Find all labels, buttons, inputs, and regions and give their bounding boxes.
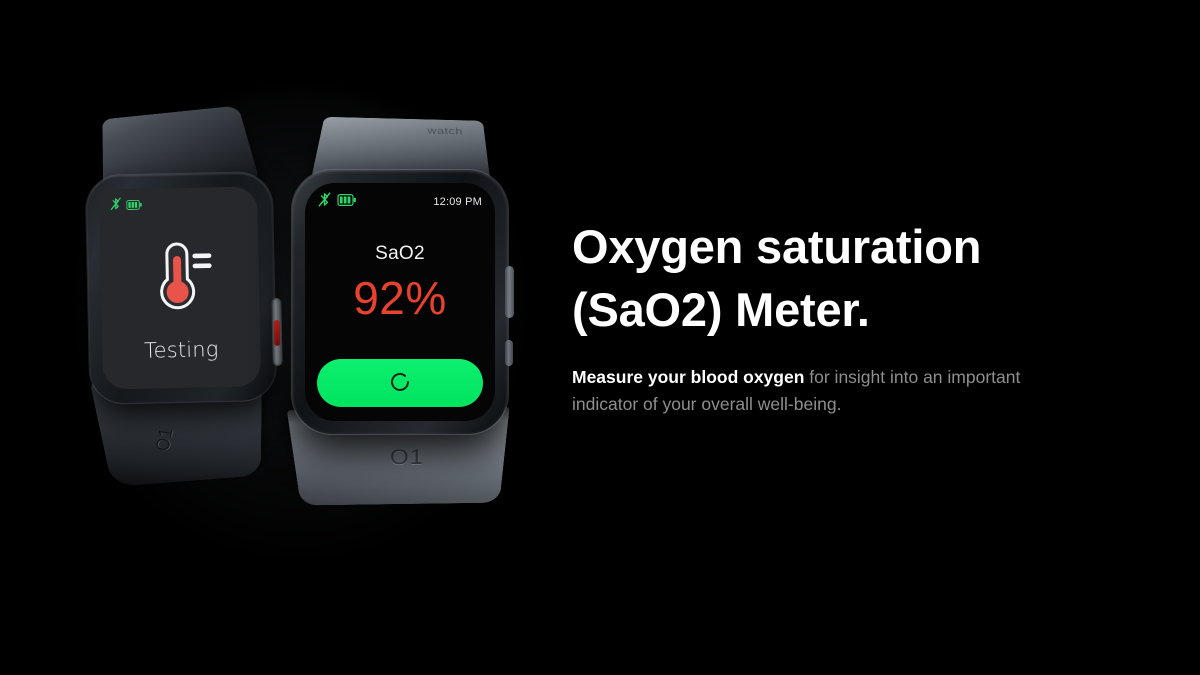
- bluetooth-disconnected-icon: [110, 197, 121, 215]
- hero-banner: O1: [0, 0, 1200, 675]
- metric-label: SaO2: [305, 243, 495, 265]
- hero-copy: Oxygen saturation (SaO2) Meter. Measure …: [572, 216, 1092, 417]
- left-watch-status-bar: [110, 197, 142, 216]
- smartwatch-right: watch O1: [272, 104, 522, 494]
- battery-icon: [126, 197, 142, 215]
- headline-line-2: (SaO2) Meter.: [572, 283, 870, 336]
- left-watch-screen[interactable]: Testing: [99, 186, 261, 389]
- right-watch-side-button[interactable]: [505, 266, 514, 318]
- status-icons-group: [318, 192, 357, 212]
- right-watch-status-bar: 12:09 PM: [305, 192, 495, 212]
- refresh-measure-button[interactable]: [317, 359, 483, 407]
- left-watch-body: Testing: [86, 172, 277, 404]
- page-title: Oxygen saturation (SaO2) Meter.: [572, 216, 1092, 342]
- strap-brand-text: watch: [427, 125, 463, 137]
- right-watch-body: 12:09 PM SaO2 92%: [292, 170, 508, 434]
- metric-value: 92%: [305, 271, 495, 325]
- hero-subtitle: Measure your blood oxygen for insight in…: [572, 364, 1064, 417]
- subtitle-lead: Measure your blood oxygen: [572, 367, 804, 387]
- status-bar-time: 12:09 PM: [433, 196, 482, 208]
- brand-emboss-left: O1: [153, 426, 179, 453]
- right-watch-screen[interactable]: 12:09 PM SaO2 92%: [305, 183, 495, 421]
- bluetooth-disconnected-icon: [318, 192, 331, 212]
- product-image: O1: [0, 0, 560, 675]
- left-watch-caption: Testing: [102, 336, 260, 363]
- battery-icon: [337, 193, 357, 211]
- right-watch-side-button-secondary[interactable]: [505, 340, 513, 366]
- brand-emboss-right: O1: [390, 445, 425, 470]
- refresh-icon: [387, 369, 413, 398]
- thermometer-icon: [100, 238, 260, 317]
- headline-line-1: Oxygen saturation: [572, 220, 981, 273]
- smartwatch-left: O1: [75, 118, 282, 452]
